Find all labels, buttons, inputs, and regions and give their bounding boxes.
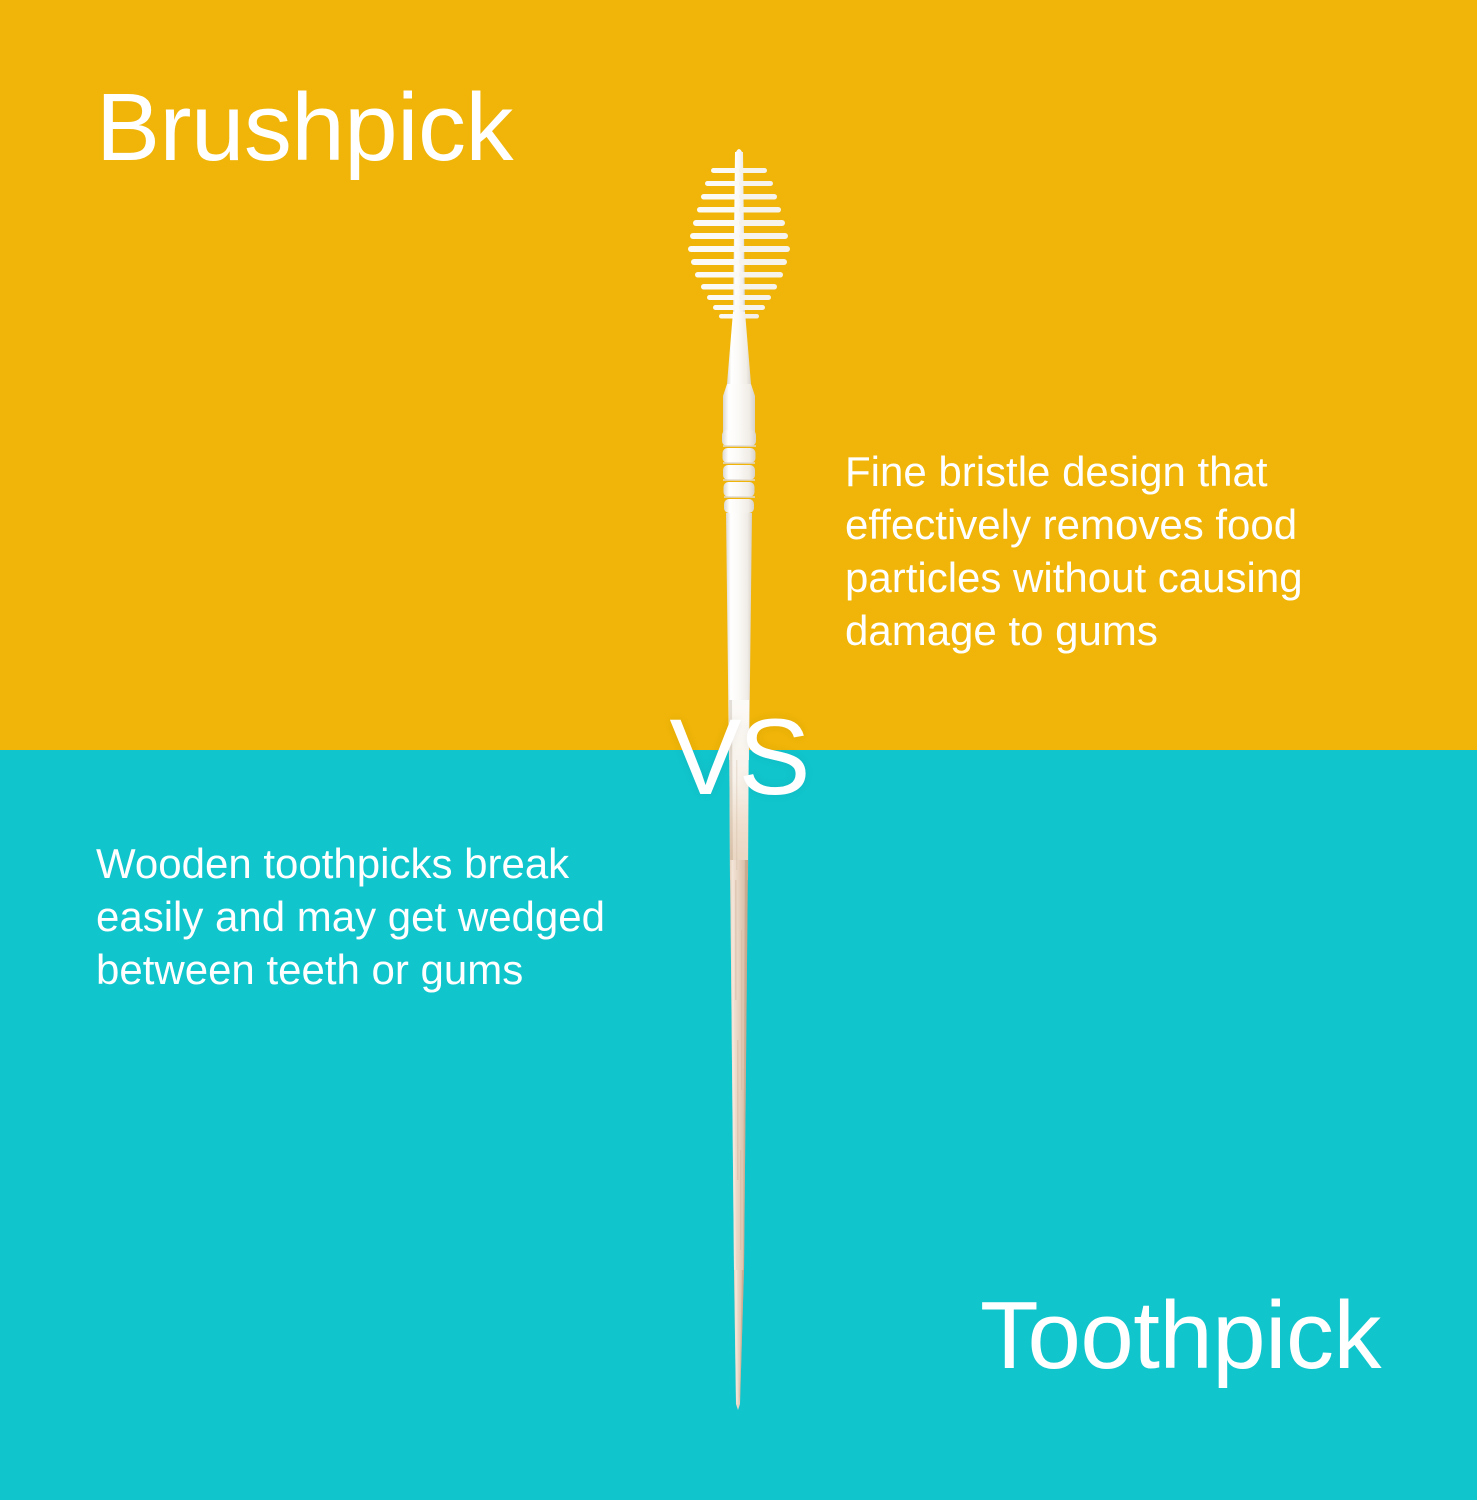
comparison-poster: VS Brushpick Toothpick Fine bristle desi… xyxy=(0,0,1477,1500)
page-title-toothpick: Toothpick xyxy=(980,1288,1381,1384)
toothpick-description: Wooden toothpicks break easily and may g… xyxy=(96,838,676,997)
page-title-brushpick: Brushpick xyxy=(96,80,513,176)
brushpick-description: Fine bristle design that effectively rem… xyxy=(845,446,1415,658)
versus-label: VS xyxy=(0,703,1477,811)
